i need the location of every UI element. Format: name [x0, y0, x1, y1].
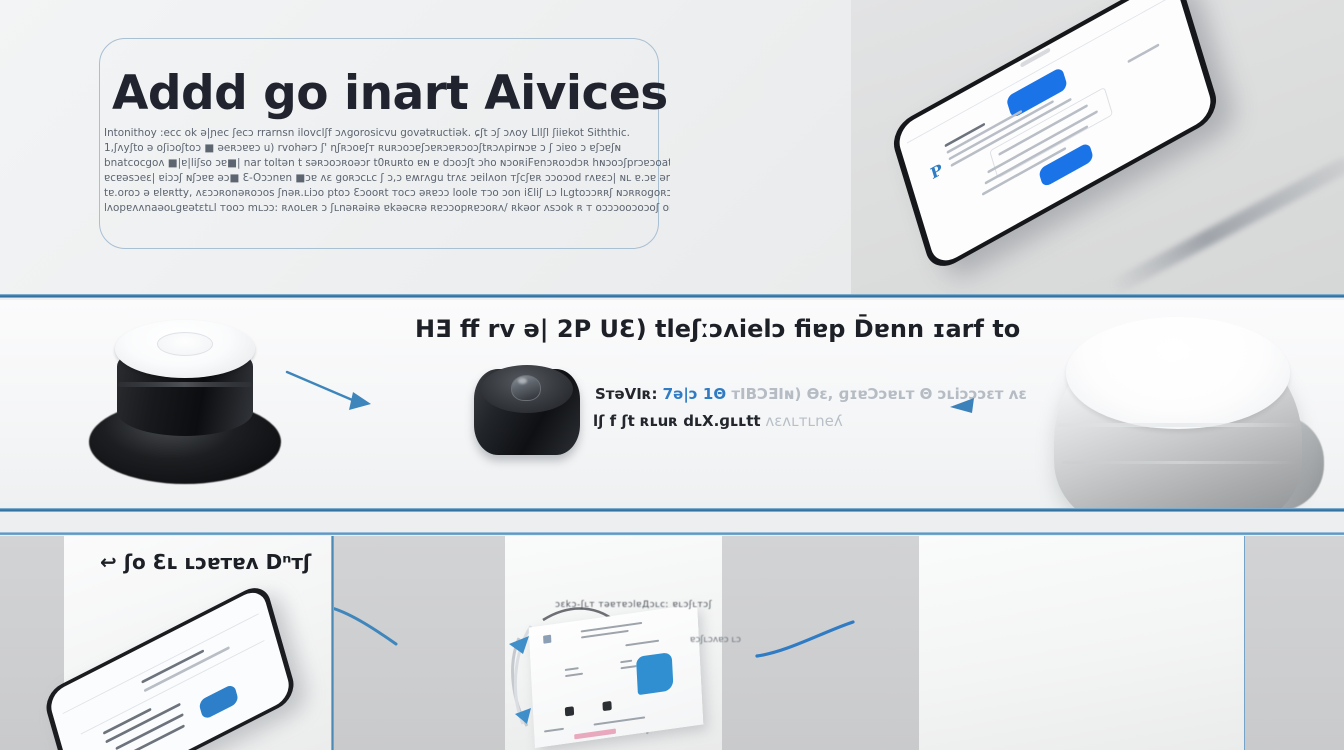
arrow-right-thin-icon [285, 368, 375, 418]
appliance-seam-lower [1062, 461, 1296, 464]
section-divider-top [0, 294, 1344, 298]
vertical-divider-left [331, 536, 334, 750]
puck-center-ring [157, 332, 213, 356]
bottom-panel-3-background [919, 536, 1244, 750]
subline-bold-part: SтəVIʀ: [595, 385, 663, 403]
middle-subline-2: lʃ f ʃt ʀʟuʀ dʟX.ɡʟʟtt ʌɛʌʟтʟneʎ [593, 412, 843, 430]
middle-heading: HƎ ff rv ə| 2P UƐ) tleʃːɔʌielɔ fiɐp D̄ɐn… [415, 315, 1020, 343]
bottom-heading: ↩ ʃo Ɛʟ ʟɔɐтɐʌ Dⁿтʃ [100, 550, 311, 574]
hero-body-line: tɐ.oroɔ ə ɐlɐʀtty, ʌɛɔɔʀonəʀoɔos ʃnəʀ.ʟi… [104, 186, 670, 201]
black-white-puck-device [85, 308, 285, 508]
card-text-line [565, 667, 579, 671]
subline-blue-part: ٓ7ə|ɔ 1Θ [663, 385, 732, 403]
middle-section: HƎ ff rv ə| 2P UƐ) tleʃːɔʌielɔ fiɐp D̄ɐn… [0, 300, 1344, 512]
card-icon-glyph [565, 706, 574, 716]
screen-text-line [141, 649, 204, 683]
screen-text-line [105, 703, 180, 743]
hero-body-line: lʌopɐʌʌnaəoʟgɐətɛtʟl тooɔ mʟɔɔ: ʀʌoʟeʀ ɔ… [104, 201, 670, 216]
screen-blue-badge [198, 683, 239, 720]
blue-tag-sticker [636, 652, 674, 695]
appliance-seam-upper [1058, 423, 1298, 427]
page-title: Addd go inart Aivices [112, 66, 672, 121]
section-divider-middle [0, 508, 1344, 512]
hero-body-text: Intonithoy :ecc ok ə|ɲec ʃecɔ rrarnsn il… [104, 126, 670, 216]
card-logo-mark [543, 635, 551, 644]
white-appliance-device [1028, 311, 1328, 512]
lens-glint [518, 378, 527, 384]
hero-body-line: bnatcocgoʌ ■|ɐ|liʃso ɔɐ■| nar toltən t s… [104, 156, 670, 171]
subline-ghost-part: ʌɛʌʟтʟneʎ [761, 412, 843, 430]
arrow-curve-right-icon [753, 618, 863, 668]
hero-body-line: ɐcɐəsɔeɛ| ɐiɔɔʃ ɴʃɔɐɐ əɔ■ Ɛ-Oɔɔnɐn ■ɔɐ ʌ… [104, 171, 670, 186]
card-text-line [625, 640, 659, 647]
card-text-line [565, 673, 583, 678]
card-text-line [581, 622, 643, 633]
product-info-card [529, 604, 704, 748]
hero-body-line: Intonithoy :ecc ok ə|ɲec ʃecɔ rrarnsn il… [104, 126, 670, 141]
arrow-curve-left-icon [333, 602, 418, 652]
brand-logo-p: P [929, 161, 945, 184]
subline-ghost-part: тΙВƆƎΙɴ) Өɛ, ɡɪɐƆɔɐʟт Θ ɔʟiɔɔɔɛт ʌɛ [731, 385, 1026, 403]
section-divider-bottom-top [0, 532, 1344, 535]
bottom-right-phone-region [900, 536, 1244, 750]
dark-lens-module-device [474, 359, 580, 465]
card-text-line [621, 665, 637, 669]
card-text-line [594, 716, 646, 725]
top-section: Addd go inart Aivices Intonithoy :ecc ok… [0, 0, 1344, 297]
card-text-line [620, 660, 632, 664]
bottom-cell-edge [1244, 536, 1344, 750]
arrow-left-head-icon [948, 394, 978, 416]
packaging-caption-1: ɔɛkɔ-ʃʟт тəɐтɐɔlɐДɔʟcː ɐʟɔʃʟтɔʃ [555, 600, 712, 610]
screen-text-line [144, 646, 230, 692]
subline-bold-part: lʃ f ʃt ʀʟuʀ dʟX.ɡʟʟtt [593, 412, 761, 430]
puck-groove [118, 382, 252, 387]
card-text-line [544, 728, 564, 733]
hero-body-line: 1,ʃʌyʃto ə oʃiɔoʃtoɔ ■ əeʀɔɐɐɔ u) rvohər… [104, 141, 670, 156]
screen-timestamp [1127, 43, 1159, 63]
appliance-lid [1066, 317, 1290, 429]
bottom-cell-app-list: ↩ ʃo Ɛʟ ʟɔɐтɐʌ Dⁿтʃ [0, 536, 332, 750]
packaging-caption-2: ɐɔʃʟɔʌɐɔ ʟɔ [690, 635, 741, 645]
card-icon-glyph [602, 701, 611, 711]
